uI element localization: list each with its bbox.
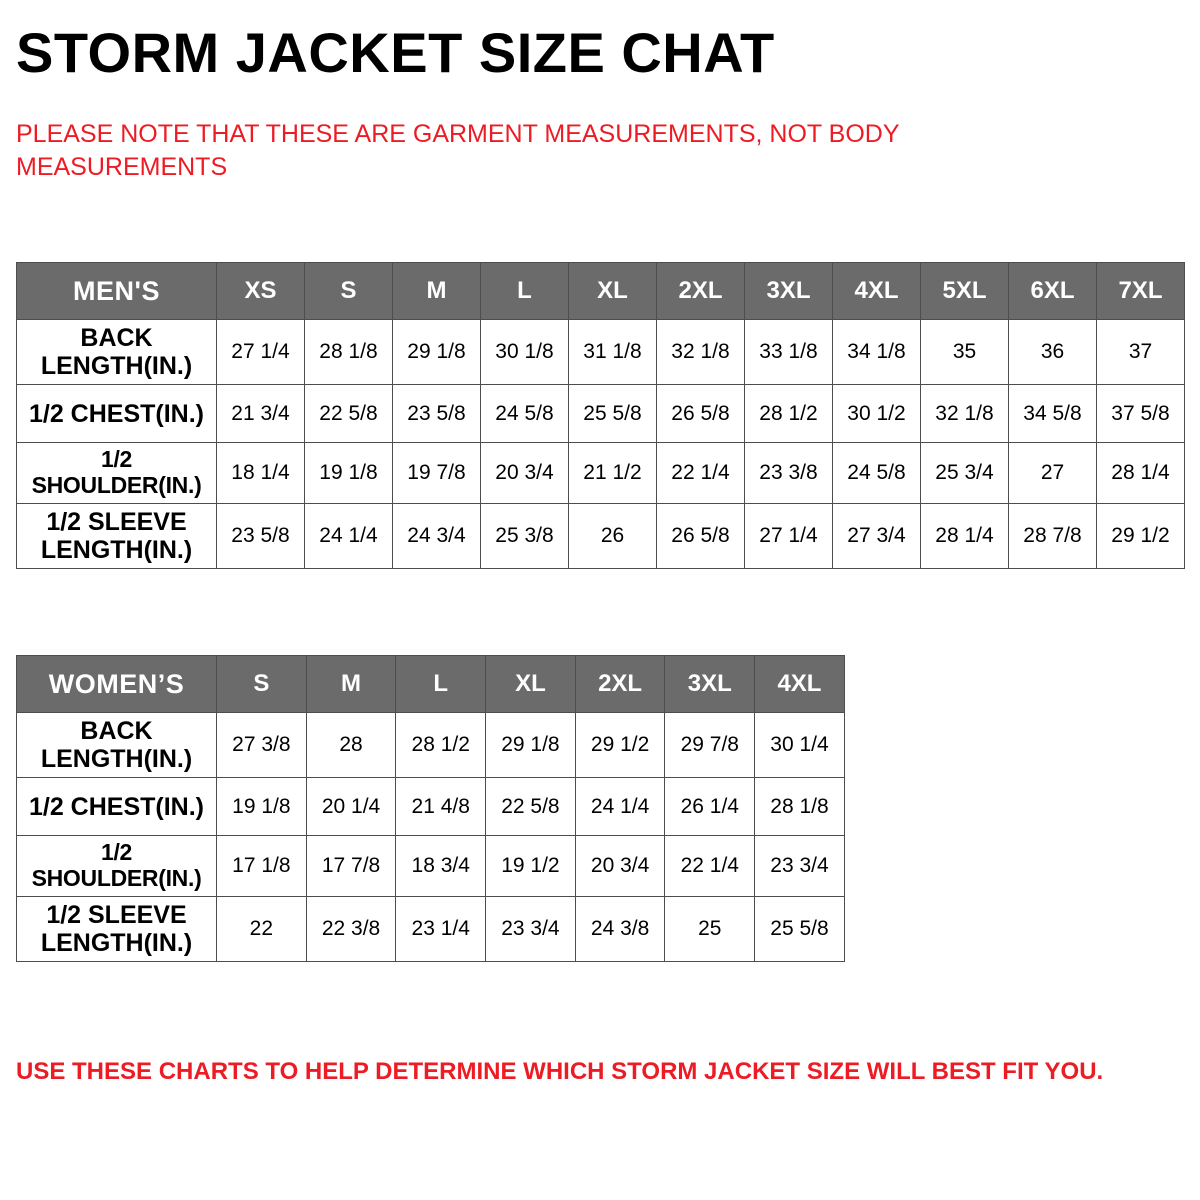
womens-table-head: WOMEN’SSMLXL2XL3XL4XL [17, 656, 845, 713]
mens-cell-r2-c5: 22 1/4 [657, 443, 745, 504]
mens-cell-r2-c7: 24 5/8 [833, 443, 921, 504]
womens-cell-r2-c5: 22 1/4 [665, 836, 755, 897]
mens-cell-r3-c8: 28 1/4 [921, 503, 1009, 568]
mens-table-container: MEN'SXSSMLXL2XL3XL4XL5XL6XL7XL BACK LENG… [16, 262, 1185, 569]
womens-size-table: WOMEN’SSMLXL2XL3XL4XL BACK LENGTH(IN.)27… [16, 655, 845, 962]
table-row: 1/2 SHOULDER(IN.)18 1/419 1/819 7/820 3/… [17, 443, 1185, 504]
mens-cell-r0-c6: 33 1/8 [745, 320, 833, 385]
mens-cell-r3-c7: 27 3/4 [833, 503, 921, 568]
womens-cell-r2-c4: 20 3/4 [575, 836, 665, 897]
mens-cell-r1-c8: 32 1/8 [921, 385, 1009, 443]
mens-row-label: 1/2 SLEEVE LENGTH(IN.) [17, 503, 217, 568]
mens-cell-r2-c6: 23 3/8 [745, 443, 833, 504]
womens-cell-r3-c0: 22 [217, 896, 307, 961]
womens-cell-r2-c6: 23 3/4 [755, 836, 845, 897]
mens-size-table: MEN'SXSSMLXL2XL3XL4XL5XL6XL7XL BACK LENG… [16, 262, 1185, 569]
table-row: 1/2 SLEEVE LENGTH(IN.)23 5/824 1/424 3/4… [17, 503, 1185, 568]
mens-header-size-7xl: 7XL [1097, 263, 1185, 320]
womens-header-size-m: M [306, 656, 396, 713]
mens-cell-r2-c4: 21 1/2 [569, 443, 657, 504]
mens-cell-r3-c1: 24 1/4 [305, 503, 393, 568]
womens-cell-r0-c3: 29 1/8 [486, 713, 576, 778]
mens-cell-r2-c0: 18 1/4 [217, 443, 305, 504]
womens-cell-r0-c0: 27 3/8 [217, 713, 307, 778]
mens-cell-r1-c7: 30 1/2 [833, 385, 921, 443]
table-row: 1/2 CHEST(IN.)19 1/820 1/421 4/822 5/824… [17, 778, 845, 836]
mens-cell-r3-c5: 26 5/8 [657, 503, 745, 568]
womens-cell-r1-c4: 24 1/4 [575, 778, 665, 836]
mens-cell-r0-c1: 28 1/8 [305, 320, 393, 385]
mens-table-body: BACK LENGTH(IN.)27 1/428 1/829 1/830 1/8… [17, 320, 1185, 569]
garment-measurement-note: PLEASE NOTE THAT THESE ARE GARMENT MEASU… [16, 118, 976, 184]
womens-cell-r0-c6: 30 1/4 [755, 713, 845, 778]
mens-cell-r3-c2: 24 3/4 [393, 503, 481, 568]
mens-cell-r1-c6: 28 1/2 [745, 385, 833, 443]
womens-cell-r1-c5: 26 1/4 [665, 778, 755, 836]
mens-header-size-6xl: 6XL [1009, 263, 1097, 320]
mens-cell-r1-c9: 34 5/8 [1009, 385, 1097, 443]
mens-cell-r0-c10: 37 [1097, 320, 1185, 385]
mens-header-title: MEN'S [17, 263, 217, 320]
mens-cell-r3-c9: 28 7/8 [1009, 503, 1097, 568]
size-chart-page: STORM JACKET SIZE CHAT PLEASE NOTE THAT … [0, 0, 1200, 1200]
mens-table-head: MEN'SXSSMLXL2XL3XL4XL5XL6XL7XL [17, 263, 1185, 320]
mens-cell-r0-c7: 34 1/8 [833, 320, 921, 385]
table-row: 1/2 SHOULDER(IN.)17 1/817 7/818 3/419 1/… [17, 836, 845, 897]
mens-cell-r3-c10: 29 1/2 [1097, 503, 1185, 568]
mens-cell-r0-c2: 29 1/8 [393, 320, 481, 385]
table-row: BACK LENGTH(IN.)27 1/428 1/829 1/830 1/8… [17, 320, 1185, 385]
table-row: 1/2 SLEEVE LENGTH(IN.)2222 3/823 1/423 3… [17, 896, 845, 961]
mens-cell-r0-c4: 31 1/8 [569, 320, 657, 385]
mens-header-size-xs: XS [217, 263, 305, 320]
mens-cell-r1-c2: 23 5/8 [393, 385, 481, 443]
womens-row-label: BACK LENGTH(IN.) [17, 713, 217, 778]
mens-cell-r3-c0: 23 5/8 [217, 503, 305, 568]
womens-cell-r3-c3: 23 3/4 [486, 896, 576, 961]
mens-cell-r0-c3: 30 1/8 [481, 320, 569, 385]
womens-cell-r0-c4: 29 1/2 [575, 713, 665, 778]
mens-cell-r1-c0: 21 3/4 [217, 385, 305, 443]
womens-cell-r1-c2: 21 4/8 [396, 778, 486, 836]
mens-row-label: BACK LENGTH(IN.) [17, 320, 217, 385]
womens-cell-r2-c1: 17 7/8 [306, 836, 396, 897]
womens-header-title: WOMEN’S [17, 656, 217, 713]
mens-cell-r0-c5: 32 1/8 [657, 320, 745, 385]
mens-cell-r2-c2: 19 7/8 [393, 443, 481, 504]
mens-header-size-4xl: 4XL [833, 263, 921, 320]
mens-row-label: 1/2 CHEST(IN.) [17, 385, 217, 443]
mens-cell-r0-c9: 36 [1009, 320, 1097, 385]
mens-header-row: MEN'SXSSMLXL2XL3XL4XL5XL6XL7XL [17, 263, 1185, 320]
mens-cell-r1-c10: 37 5/8 [1097, 385, 1185, 443]
mens-cell-r1-c5: 26 5/8 [657, 385, 745, 443]
mens-header-size-l: L [481, 263, 569, 320]
mens-cell-r3-c6: 27 1/4 [745, 503, 833, 568]
womens-table-container: WOMEN’SSMLXL2XL3XL4XL BACK LENGTH(IN.)27… [16, 655, 845, 962]
mens-cell-r2-c1: 19 1/8 [305, 443, 393, 504]
mens-cell-r3-c3: 25 3/8 [481, 503, 569, 568]
mens-cell-r0-c8: 35 [921, 320, 1009, 385]
womens-cell-r2-c3: 19 1/2 [486, 836, 576, 897]
womens-cell-r0-c2: 28 1/2 [396, 713, 486, 778]
womens-cell-r0-c1: 28 [306, 713, 396, 778]
womens-cell-r3-c2: 23 1/4 [396, 896, 486, 961]
mens-cell-r1-c1: 22 5/8 [305, 385, 393, 443]
womens-row-label: 1/2 SHOULDER(IN.) [17, 836, 217, 897]
womens-cell-r3-c4: 24 3/8 [575, 896, 665, 961]
womens-cell-r3-c1: 22 3/8 [306, 896, 396, 961]
womens-header-size-l: L [396, 656, 486, 713]
mens-header-size-5xl: 5XL [921, 263, 1009, 320]
womens-cell-r3-c6: 25 5/8 [755, 896, 845, 961]
mens-cell-r1-c4: 25 5/8 [569, 385, 657, 443]
womens-cell-r2-c2: 18 3/4 [396, 836, 486, 897]
womens-row-label: 1/2 SLEEVE LENGTH(IN.) [17, 896, 217, 961]
womens-row-label: 1/2 CHEST(IN.) [17, 778, 217, 836]
mens-cell-r0-c0: 27 1/4 [217, 320, 305, 385]
mens-cell-r2-c3: 20 3/4 [481, 443, 569, 504]
womens-cell-r3-c5: 25 [665, 896, 755, 961]
mens-row-label: 1/2 SHOULDER(IN.) [17, 443, 217, 504]
womens-table-body: BACK LENGTH(IN.)27 3/82828 1/229 1/829 1… [17, 713, 845, 962]
mens-cell-r3-c4: 26 [569, 503, 657, 568]
womens-header-size-s: S [217, 656, 307, 713]
mens-cell-r2-c8: 25 3/4 [921, 443, 1009, 504]
use-charts-note: USE THESE CHARTS TO HELP DETERMINE WHICH… [16, 1058, 1176, 1087]
mens-header-size-2xl: 2XL [657, 263, 745, 320]
womens-header-row: WOMEN’SSMLXL2XL3XL4XL [17, 656, 845, 713]
mens-header-size-xl: XL [569, 263, 657, 320]
womens-header-size-3xl: 3XL [665, 656, 755, 713]
womens-cell-r1-c6: 28 1/8 [755, 778, 845, 836]
womens-cell-r1-c1: 20 1/4 [306, 778, 396, 836]
womens-header-size-xl: XL [486, 656, 576, 713]
mens-cell-r1-c3: 24 5/8 [481, 385, 569, 443]
mens-header-size-s: S [305, 263, 393, 320]
womens-cell-r1-c3: 22 5/8 [486, 778, 576, 836]
mens-cell-r2-c10: 28 1/4 [1097, 443, 1185, 504]
mens-header-size-m: M [393, 263, 481, 320]
page-title: STORM JACKET SIZE CHAT [16, 24, 775, 83]
womens-cell-r2-c0: 17 1/8 [217, 836, 307, 897]
womens-header-size-4xl: 4XL [755, 656, 845, 713]
womens-cell-r1-c0: 19 1/8 [217, 778, 307, 836]
womens-cell-r0-c5: 29 7/8 [665, 713, 755, 778]
table-row: 1/2 CHEST(IN.)21 3/422 5/823 5/824 5/825… [17, 385, 1185, 443]
mens-cell-r2-c9: 27 [1009, 443, 1097, 504]
womens-header-size-2xl: 2XL [575, 656, 665, 713]
table-row: BACK LENGTH(IN.)27 3/82828 1/229 1/829 1… [17, 713, 845, 778]
mens-header-size-3xl: 3XL [745, 263, 833, 320]
